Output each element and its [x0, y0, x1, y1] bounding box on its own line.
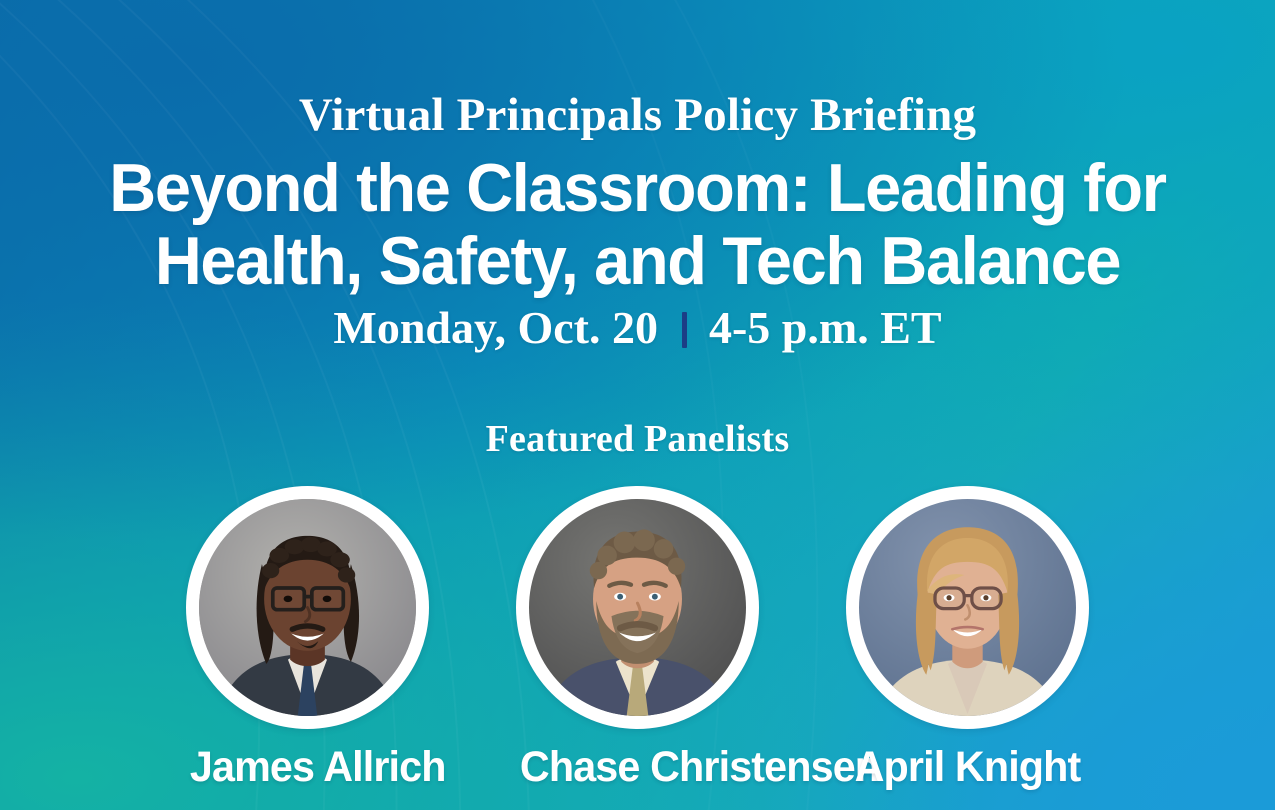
avatar [846, 486, 1089, 729]
event-datetime: Monday, Oct. 20 4-5 p.m. ET [0, 303, 1275, 354]
headline-line-1: Beyond the Classroom: Leading for [29, 152, 1247, 225]
promo-card: Virtual Principals Policy Briefing Beyon… [0, 0, 1275, 810]
panelist-card: Chase Christensen [515, 486, 760, 790]
panelist-photo-james-allrich [199, 499, 416, 716]
panelist-card: April Knight [845, 486, 1090, 790]
panelist-card: James Allrich [185, 486, 430, 790]
datetime-divider-icon [682, 312, 687, 348]
content-stage: Virtual Principals Policy Briefing Beyon… [0, 0, 1275, 810]
event-date: Monday, Oct. 20 [333, 303, 658, 354]
featured-panelists-label: Featured Panelists [0, 417, 1275, 461]
avatar [516, 486, 759, 729]
headline-line-2: Health, Safety, and Tech Balance [29, 225, 1247, 298]
panelist-photo-april-knight [859, 499, 1076, 716]
event-time: 4-5 p.m. ET [709, 303, 942, 354]
panelist-photo-chase-christensen [529, 499, 746, 716]
panelist-name: Chase Christensen [520, 745, 755, 790]
panelist-name: James Allrich [190, 745, 425, 790]
avatar [186, 486, 429, 729]
panelist-list: James Allrich [0, 486, 1275, 790]
event-headline: Beyond the Classroom: Leading for Health… [29, 152, 1247, 298]
panelist-name: April Knight [850, 745, 1085, 790]
event-eyebrow: Virtual Principals Policy Briefing [0, 90, 1275, 141]
